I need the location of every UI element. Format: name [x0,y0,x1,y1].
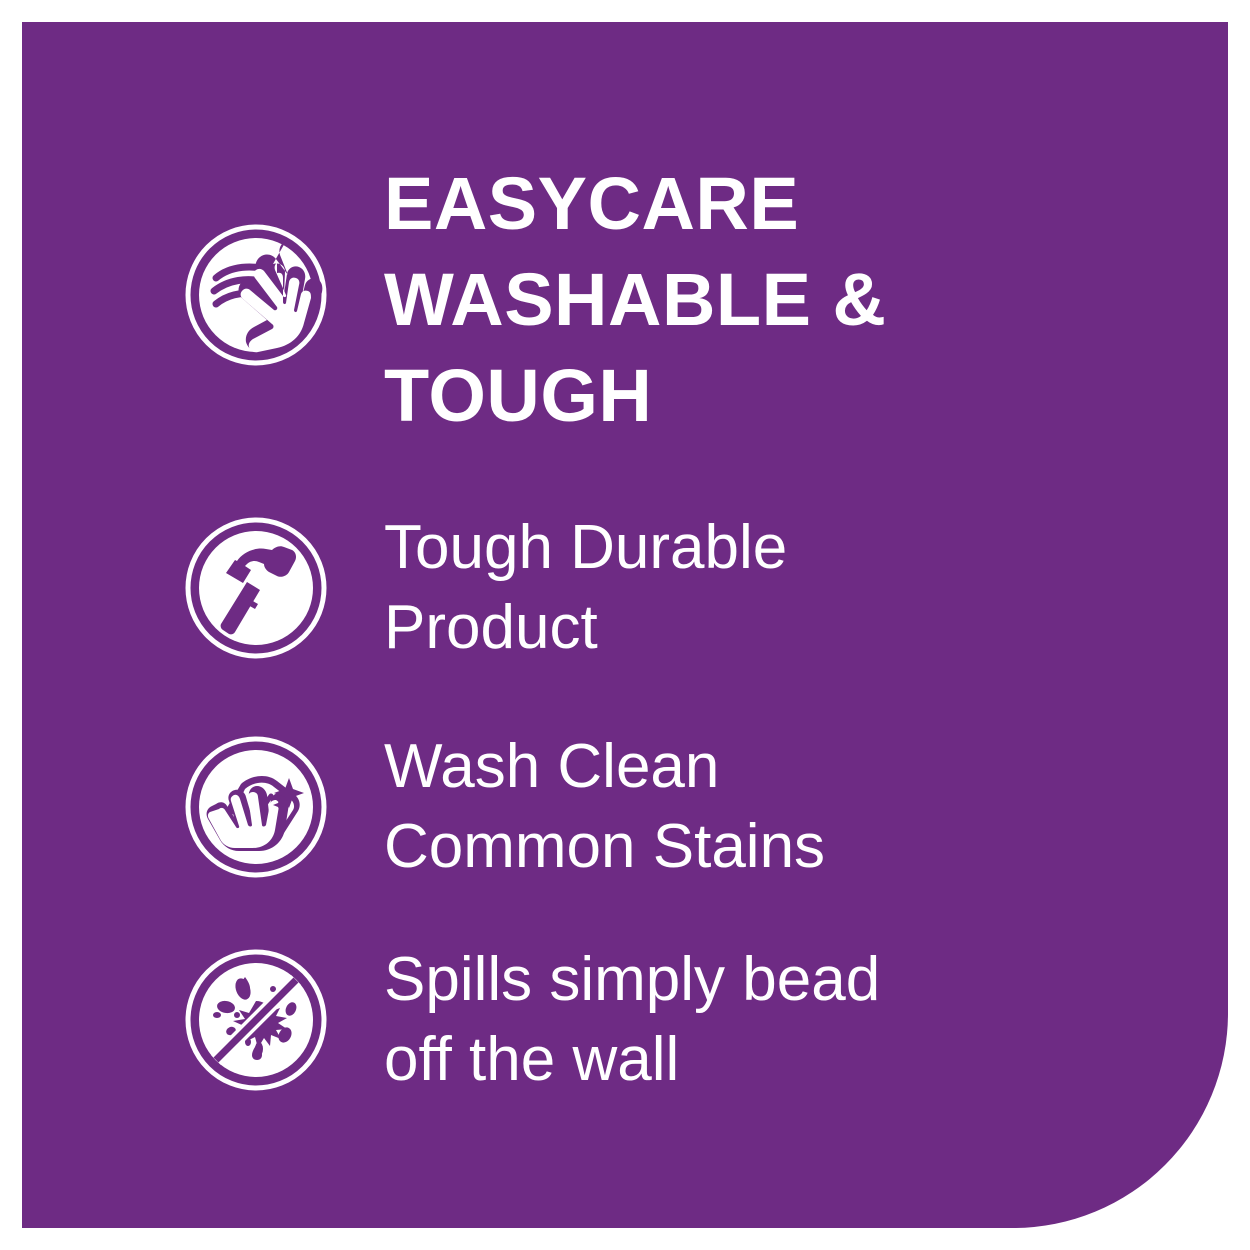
headline-line-3: TOUGH [384,348,886,444]
hand-cloth-sparkle-icon [185,736,327,878]
feature-row-tough-durable: Tough Durable Product [185,508,787,668]
feature-line: Wash Clean Common Stains [384,727,825,887]
feature-row-wash-clean: Wash Clean Common Stains [185,727,825,887]
feature-text-block: Wash Clean Common Stains [384,727,825,887]
feature-text-block: Spills simply bead off the wall [384,940,880,1100]
feature-line-1: Tough Durable [384,508,787,588]
headline-line-2: WASHABLE & [384,252,886,348]
hand-wiping-icon [185,224,327,366]
feature-line-1: Spills simply bead [384,940,880,1020]
feature-line-2: Product [384,588,787,668]
headline-row: EASYCARE WASHABLE & TOUGH [185,156,886,444]
headline-line-1: EASYCARE [384,156,886,252]
feature-text-block: Tough Durable Product [384,508,787,668]
feature-line: Tough Durable Product [384,508,787,668]
headline-text-block: EASYCARE WASHABLE & TOUGH [384,156,886,444]
feature-line-2: off the wall [384,1020,880,1100]
feature-line: Spills simply bead off the wall [384,940,880,1100]
feature-row-spills-bead: Spills simply bead off the wall [185,940,880,1100]
product-feature-panel: EASYCARE WASHABLE & TOUGH Tough Durable … [0,0,1250,1250]
no-splatter-icon [185,949,327,1091]
feature-line-1: Wash Clean [384,727,825,807]
feature-line-2: Common Stains [384,807,825,887]
hammer-icon [185,517,327,659]
